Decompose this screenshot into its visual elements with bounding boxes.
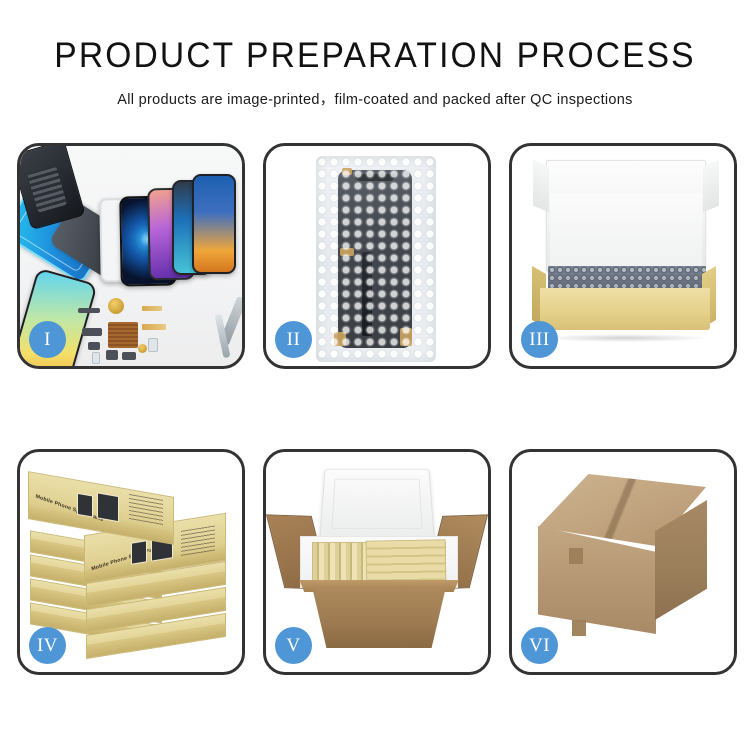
process-step-grid: I II — [17, 143, 733, 675]
header: PRODUCT PREPARATION PROCESS All products… — [0, 36, 750, 109]
small-chip-3-icon — [122, 352, 136, 360]
step-panel-5[interactable]: V — [263, 449, 491, 675]
glass-lens-icon — [92, 352, 100, 364]
inner-kraft-boxes-stack-icon — [366, 539, 447, 586]
phone-screen-orange-icon — [192, 174, 236, 274]
step-panel-2[interactable]: II — [263, 143, 491, 369]
sim-tray-icon — [148, 338, 158, 352]
phone-housing-icon — [20, 146, 86, 230]
step-panel-1[interactable]: I — [17, 143, 245, 369]
step-badge-4: IV — [29, 627, 66, 664]
step-badge-5: V — [275, 627, 312, 664]
box-window-1b — [97, 492, 119, 522]
box-spec-lines-2 — [181, 525, 215, 556]
gold-contact-icon — [138, 344, 147, 353]
carton-tape-upper-icon — [569, 548, 583, 564]
step-panel-3[interactable]: III — [509, 143, 737, 369]
box-window-1a — [77, 493, 93, 518]
flex-cable-2-icon — [142, 324, 166, 330]
carton-tape-lower-icon — [572, 620, 586, 636]
step-badge-2: II — [275, 321, 312, 358]
speaker-part-icon — [108, 298, 124, 314]
logic-board-icon — [108, 322, 138, 348]
bubble-texture-overlay — [316, 156, 436, 362]
step-panel-6[interactable]: VI — [509, 449, 737, 675]
camera-bracket-icon — [78, 308, 100, 313]
box-shadow — [542, 334, 708, 342]
styrofoam-lid-icon — [319, 469, 435, 541]
foam-sheet-icon — [550, 194, 702, 268]
page-title: PRODUCT PREPARATION PROCESS — [15, 36, 735, 76]
connector-icon — [82, 328, 102, 336]
small-chip-1-icon — [88, 342, 100, 350]
page-root: PRODUCT PREPARATION PROCESS All products… — [0, 0, 750, 750]
box-window-2a — [131, 540, 147, 565]
flex-cable-1-icon — [142, 306, 162, 311]
step-badge-6: VI — [521, 627, 558, 664]
step-badge-1: I — [29, 321, 66, 358]
small-chip-2-icon — [106, 350, 118, 360]
box-spec-lines-1 — [129, 494, 163, 526]
step-badge-3: III — [521, 321, 558, 358]
box-front-panel-icon — [540, 288, 710, 330]
step-panel-4[interactable]: Mobile Phone Spare Parts Mobile Phone Sp… — [17, 449, 245, 675]
bubble-wrap-bag-icon — [316, 156, 436, 362]
carton-front-icon — [306, 586, 452, 648]
page-subtitle: All products are image-printed，film-coat… — [0, 88, 750, 109]
